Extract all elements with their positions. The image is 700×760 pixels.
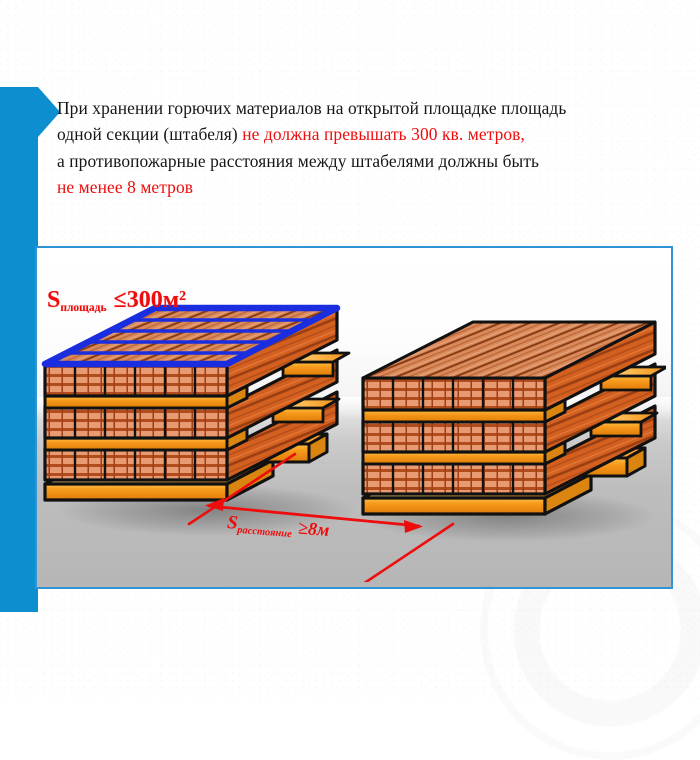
- headline-line-1: При хранении горючих материалов на откры…: [57, 98, 566, 118]
- area-subscript: площадь: [60, 302, 106, 314]
- right-stack[interactable]: [363, 322, 666, 514]
- headline-line-2-red: не должна превышать 300 кв. метров,: [242, 124, 525, 144]
- headline-line-2-plain: одной секции (штабеля): [57, 124, 242, 144]
- left-stack[interactable]: [45, 308, 349, 500]
- headline-text: При хранении горючих материалов на откры…: [57, 95, 687, 201]
- area-label: Sплощадь≤300м2: [47, 287, 186, 314]
- accent-bar-left: [0, 87, 38, 612]
- distance-value: ≥8: [297, 518, 317, 539]
- area-symbol: S: [47, 287, 60, 313]
- distance-unit: м: [316, 519, 330, 540]
- area-exponent: 2: [179, 289, 186, 304]
- area-unit: м: [163, 287, 179, 313]
- headline-line-3: а противопожарные расстояния между штабе…: [57, 151, 539, 171]
- headline-line-4-red: не менее 8 метров: [57, 177, 193, 197]
- area-value: ≤300: [114, 287, 163, 313]
